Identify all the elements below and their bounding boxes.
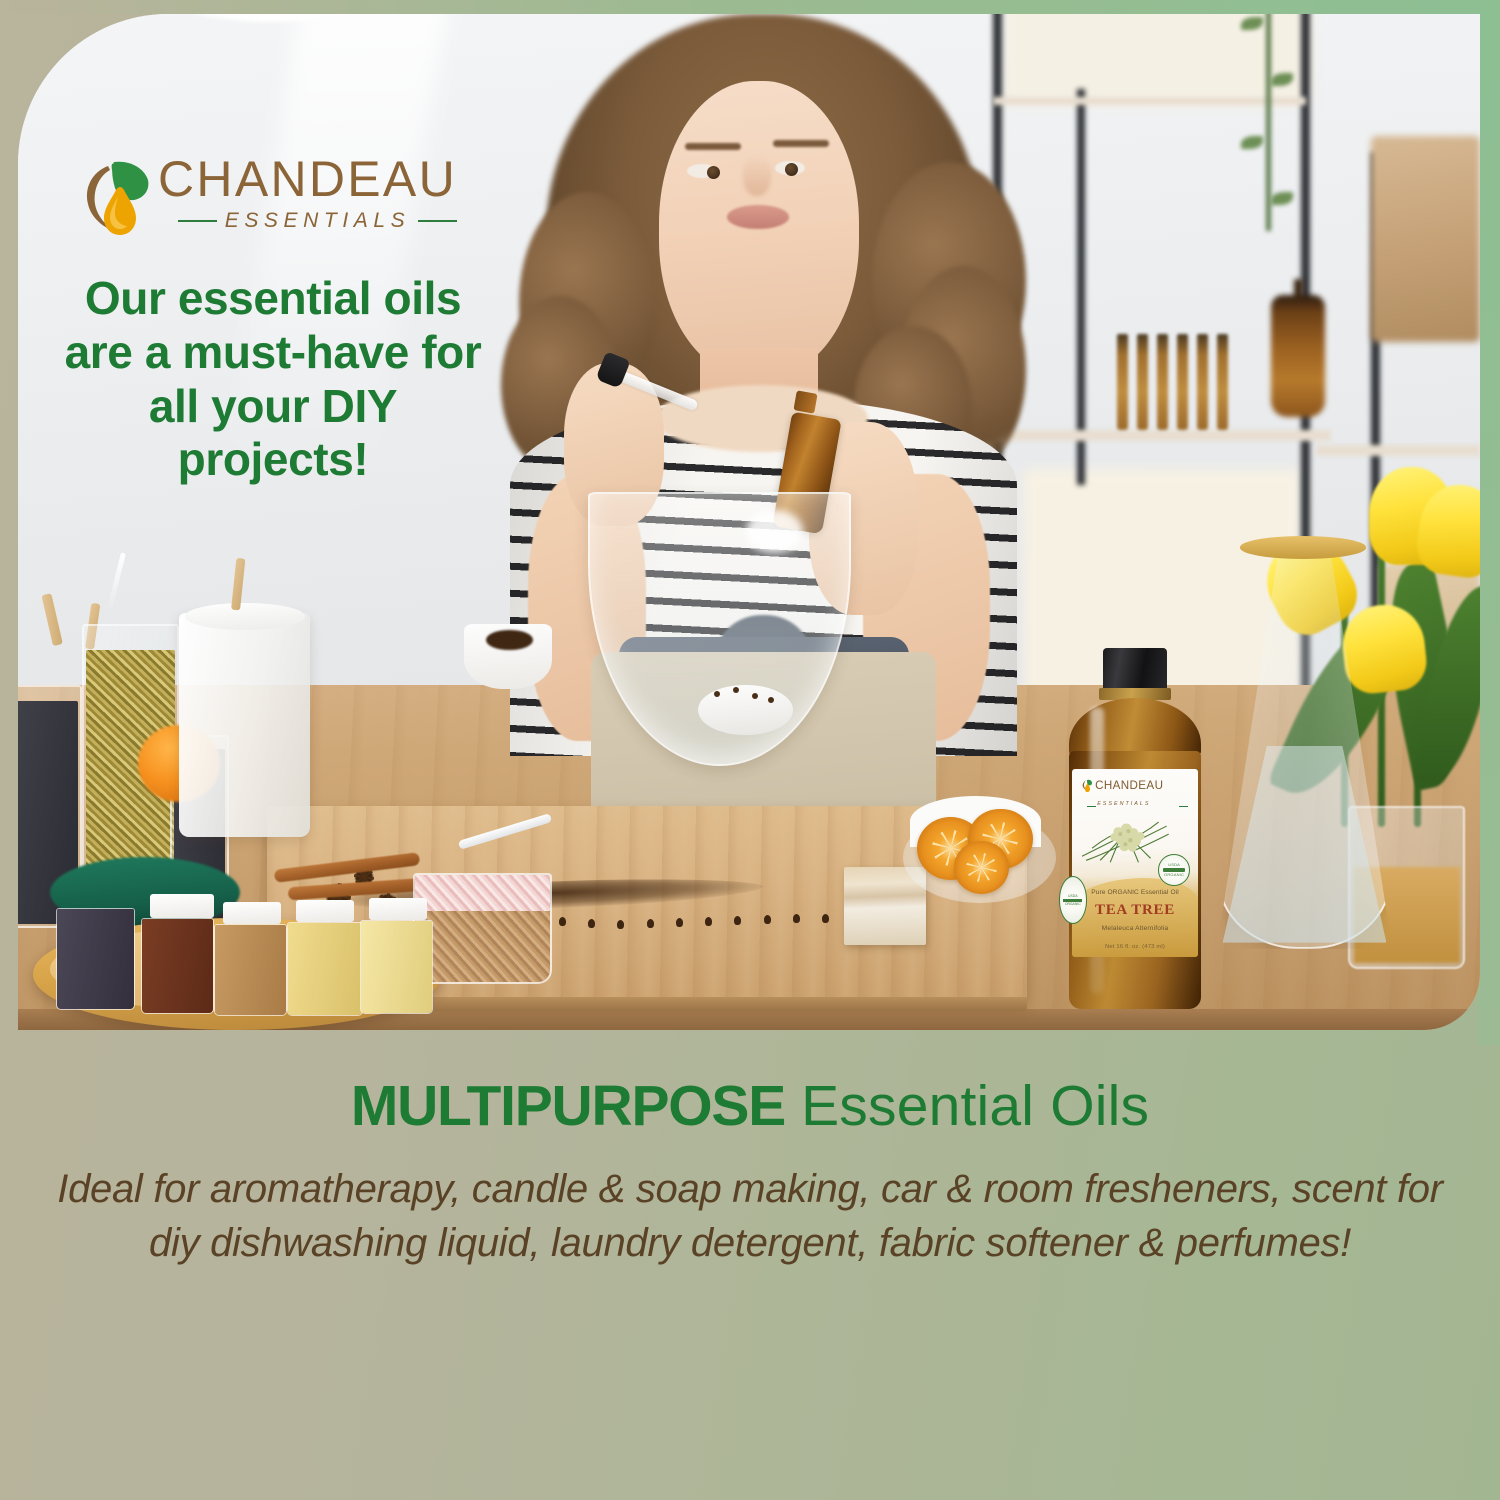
bottom-banner: MULTIPURPOSE Essential Oils Ideal for ar… [0,1030,1500,1500]
product-label: CHANDEAU ESSENTIALS [1072,769,1198,957]
usda-organic-seal: USDA ORGANIC [1158,854,1191,886]
spice-jar [56,908,135,1010]
frame-right-edge [1478,0,1500,1045]
side-organic-seal: USDA ORGANIC [1059,876,1088,924]
banner-description: Ideal for aromatherapy, candle & soap ma… [40,1162,1460,1270]
logo-tagline: ESSENTIALS [225,209,411,233]
label-pure-line: Pure ORGANIC Essential Oil [1072,889,1198,896]
logo-wordmark: CHANDEAU [158,154,457,204]
label-leaf-drop-icon [1082,779,1093,793]
banner-title-light: Essential Oils [785,1074,1149,1138]
logo-rule-left [178,220,217,222]
face [659,81,858,378]
label-latin-name: Melaleuca Alternifolia [1072,925,1198,932]
spice-jar [141,918,214,1014]
spice-jar [287,922,363,1015]
bottle-neck [794,391,818,414]
tea-tree-branch-icon [1080,818,1171,882]
leaf-oil-drop-icon [78,156,154,250]
dried-orange-slice [954,841,1010,894]
logo-rule-right [418,220,457,222]
label-brand: CHANDEAU [1095,779,1163,792]
label-brand-sub: ESSENTIALS [1097,801,1150,807]
product-bottle-tea-tree: CHANDEAU ESSENTIALS [1060,648,1210,1016]
product-marketing-image: CHANDEAU ESSENTIALS Our essential oils a… [0,0,1500,1500]
candle-jar [179,613,311,837]
spice-jar [360,920,433,1013]
bottle-shoulder [1069,698,1201,757]
bottle-cap [1103,648,1168,690]
pink-salt-bowl [413,873,552,985]
frame-top-edge [0,0,1500,14]
banner-title-bold: MULTIPURPOSE [351,1074,785,1138]
label-net-contents: Net 16 fl. oz. (473 ml) [1072,944,1198,950]
spice-jar [214,924,287,1015]
label-product-name: TEA TREE [1072,902,1198,919]
measuring-spoon [698,685,793,736]
banner-title: MULTIPURPOSE Essential Oils [0,1078,1500,1135]
brand-logo: CHANDEAU ESSENTIALS [78,152,478,257]
headline: Our essential oils are a must-have for a… [48,272,498,487]
carafe-gold-rim [1240,536,1366,558]
